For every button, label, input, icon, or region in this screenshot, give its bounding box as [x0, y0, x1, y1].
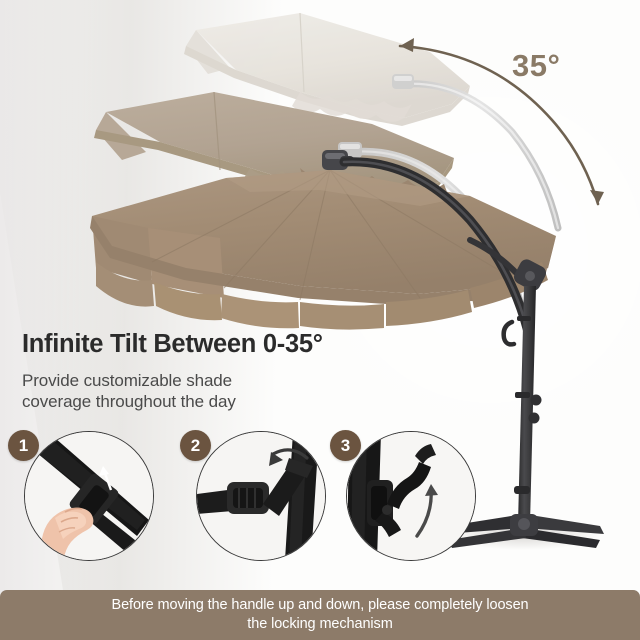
- caption-line-1: Before moving the handle up and down, pl…: [112, 596, 529, 615]
- caption-text: Before moving the handle up and down, pl…: [86, 596, 555, 634]
- step-3-photo: [346, 431, 476, 561]
- step-2-badge: 2: [180, 430, 211, 461]
- handle-rotating-icon: [197, 432, 325, 560]
- crank-lever-icon: [347, 432, 475, 560]
- instruction-steps: 1: [0, 425, 640, 565]
- step-1-badge: 1: [8, 430, 39, 461]
- tilt-angle-label: 35°: [512, 48, 560, 84]
- step-2: 2: [196, 431, 324, 559]
- step-3: 3: [346, 431, 474, 559]
- step-1: 1: [24, 431, 152, 559]
- step-3-badge: 3: [330, 430, 361, 461]
- caption-bar: Before moving the handle up and down, pl…: [0, 590, 640, 640]
- page-subtitle-line-2: coverage throughout the day: [22, 391, 236, 412]
- step-2-photo: [196, 431, 326, 561]
- background-soft-glow: [280, 40, 640, 460]
- product-infographic: 35° Infinite Tilt Between 0-35° Provide …: [0, 0, 640, 640]
- page-subtitle-line-1: Provide customizable shade: [22, 370, 236, 391]
- page-subtitle: Provide customizable shade coverage thro…: [22, 370, 236, 412]
- hand-gripping-handle-icon: [25, 432, 153, 560]
- page-title: Infinite Tilt Between 0-35°: [22, 330, 323, 359]
- caption-line-2: the locking mechanism: [112, 615, 529, 634]
- step-1-photo: [24, 431, 154, 561]
